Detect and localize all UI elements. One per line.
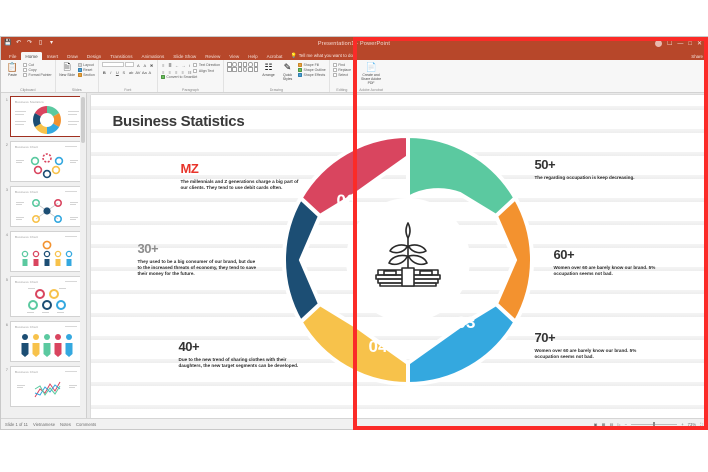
thumbnail-row[interactable]: 2 Business Chart	[3, 141, 84, 182]
share-button[interactable]: Share	[691, 54, 703, 59]
quick-styles-label: Quick Styles	[279, 73, 296, 81]
thumbnail-rule	[65, 326, 77, 327]
quick-styles-icon: ✎	[284, 62, 292, 72]
tab-design[interactable]: Design	[83, 52, 105, 60]
thumbnail-row[interactable]: 5 Business Chart	[3, 276, 84, 317]
arrange-icon: ☷	[264, 62, 272, 72]
slide-thumbnail-4[interactable]: Business Chart	[10, 231, 82, 272]
lightbulb-icon: 💡	[290, 53, 296, 59]
slideshow-view-button[interactable]: ▷	[618, 422, 621, 427]
thumbnail-number: 2	[3, 141, 8, 147]
thumbnail-title: Business Chart	[15, 145, 38, 149]
select-label: Select	[338, 73, 348, 77]
reset-icon	[78, 68, 82, 72]
title-bar: 💾 ↶ ↷ ▯ ▾ Presentation1 - PowerPoint ☐ —…	[1, 37, 707, 50]
layout-label: Layout	[83, 63, 94, 67]
new-slide-icon: 🗎	[64, 62, 71, 72]
text-block-heading: 60+	[554, 247, 679, 262]
copy-icon	[23, 68, 27, 72]
create-share-adobe-pdf-button[interactable]: 📄 Create and Share Adobe PDF	[358, 62, 384, 85]
restore-button[interactable]: □	[688, 41, 692, 47]
group-label-editing: Editing	[336, 88, 347, 93]
reset-label: Reset	[83, 68, 92, 72]
ribbon-group-paragraph: ≡ ≣ ← → ↕ Text Direction ≡ ≡ ≡	[158, 60, 224, 92]
align-center-button[interactable]: ≡	[167, 69, 172, 74]
text-direction-label: Text Direction	[199, 63, 220, 67]
window-controls[interactable]: ☐ — □ ✕	[655, 40, 704, 47]
thumbnail-number: 6	[3, 321, 8, 327]
increase-indent-button[interactable]: →	[180, 62, 185, 67]
tell-me-search[interactable]: 💡 Tell me what you want to do	[287, 51, 355, 60]
replace-label: Replace	[338, 68, 351, 72]
thumbnail-title: Business Statistics	[15, 100, 44, 104]
thumbnail-rule	[65, 281, 77, 282]
create-share-adobe-pdf-label: Create and Share Adobe PDF	[358, 73, 384, 85]
shape-fill-label: Shape Fill	[304, 63, 320, 67]
text-block-30plus[interactable]: 30+ They used to be a big consumer of ou…	[138, 241, 260, 278]
columns-button[interactable]: ☷	[187, 69, 192, 74]
thumbnail-rule	[65, 371, 77, 372]
text-block-60plus[interactable]: 60+ Women over 60 are barely know our br…	[554, 247, 679, 277]
shape-banner-icon[interactable]	[232, 67, 237, 72]
sorter-view-button[interactable]: ▦	[602, 422, 606, 427]
align-text-label: Align Text	[199, 69, 214, 73]
thumbnail-rule	[65, 146, 77, 147]
shape-effects-icon	[298, 73, 302, 77]
font-family-select[interactable]	[102, 62, 124, 67]
svg-text:01: 01	[460, 201, 479, 220]
ribbon-group-editing: Find Replace Select Editing	[330, 60, 355, 92]
ribbon-group-adobe-acrobat: 📄 Create and Share Adobe PDF Adobe Acrob…	[355, 60, 387, 92]
thumbnail-row[interactable]: 4 Business Chart	[3, 231, 84, 272]
copy-button[interactable]: Copy	[23, 68, 52, 72]
shape-ellipse-icon[interactable]	[243, 67, 248, 72]
group-label-paragraph: Paragraph	[182, 88, 199, 93]
line-spacing-button[interactable]: ↕	[187, 62, 192, 67]
shape-callout-icon[interactable]	[238, 67, 243, 72]
share-label: Share	[691, 54, 703, 59]
svg-text:02: 02	[476, 225, 495, 244]
window-title: Presentation1 - PowerPoint	[1, 41, 707, 47]
bold-button[interactable]: B	[102, 69, 107, 74]
thumbnail-number: 3	[3, 186, 8, 192]
paste-button[interactable]: 📋 Paste	[4, 62, 21, 77]
thumbnail-number: 1	[3, 96, 8, 102]
shape-effects-label: Shape Effects	[304, 73, 326, 77]
group-label-clipboard: Clipboard	[20, 88, 35, 93]
tab-acrobat[interactable]: Acrobat	[263, 52, 287, 60]
numbering-button[interactable]: ≣	[167, 62, 172, 67]
shape-circle-icon[interactable]	[248, 62, 253, 67]
align-left-button[interactable]: ≡	[161, 69, 166, 74]
shadow-button[interactable]: ab	[128, 69, 133, 74]
replace-icon	[333, 68, 337, 72]
tab-review[interactable]: Review	[201, 52, 224, 60]
text-block-body: Women over 60 are barely know our brand.…	[535, 348, 660, 360]
font-color-button[interactable]: A	[147, 69, 152, 74]
shape-fill-button[interactable]: Shape Fill	[298, 63, 326, 67]
ribbon-tab-bar[interactable]: File Home Insert Draw Design Transitions…	[1, 50, 707, 60]
language-indicator[interactable]: Vietnamese	[33, 422, 55, 427]
underline-button[interactable]: U	[115, 69, 120, 74]
text-block-body: The regarding occupation is keep decreas…	[535, 175, 657, 181]
zoom-slider-knob[interactable]	[653, 422, 655, 427]
text-block-body: They used to be a big consumer of our br…	[138, 259, 260, 278]
paintbrush-icon	[23, 73, 27, 77]
tab-insert[interactable]: Insert	[43, 52, 63, 60]
group-label-font: Font	[124, 88, 131, 93]
arrange-button[interactable]: ☷ Arrange	[260, 62, 277, 77]
tab-transitions[interactable]: Transitions	[106, 52, 136, 60]
zoom-slider[interactable]	[631, 424, 677, 425]
shape-effects-button[interactable]: Shape Effects	[298, 73, 326, 77]
text-direction-icon	[193, 63, 197, 67]
account-avatar-icon[interactable]	[655, 40, 662, 47]
tab-view[interactable]: View	[225, 52, 243, 60]
thumbnail-title: Business Chart	[15, 325, 38, 329]
adobe-pdf-icon: 📄	[365, 62, 376, 72]
ribbon-body: 📋 Paste Cut Copy	[1, 60, 707, 93]
group-label-adobe-acrobat: Adobe Acrobat	[359, 88, 383, 93]
shape-outline-icon	[298, 68, 302, 72]
shape-star-icon[interactable]	[248, 67, 253, 72]
text-block-70plus[interactable]: 70+ Women over 60 are barely know our br…	[535, 330, 660, 360]
bullets-button[interactable]: ≡	[161, 62, 166, 67]
section-label: Section	[83, 73, 95, 77]
paste-label: Paste	[8, 73, 17, 77]
search-icon	[333, 63, 337, 67]
notes-button[interactable]: Notes	[60, 422, 71, 427]
donut-cycle-chart[interactable]: 01 02 03	[277, 129, 539, 391]
slide-canvas-area: Business Statistics MZ The millennials a…	[87, 93, 707, 429]
slide-thumbnail-pane[interactable]: 1 Business Statistics	[1, 93, 87, 429]
thumbnail-row[interactable]: 3 Business Chart	[3, 186, 84, 227]
quick-styles-button[interactable]: ✎ Quick Styles	[279, 62, 296, 81]
shape-rect-icon[interactable]	[227, 62, 232, 67]
shape-oval-icon[interactable]	[232, 62, 237, 67]
thumbnail-rule	[65, 191, 77, 192]
status-bar: Slide 1 of 11 Vietnamese Notes Comments …	[1, 418, 707, 429]
shape-flow-icon[interactable]	[254, 67, 259, 72]
thumbnail-title: Business Chart	[15, 280, 38, 284]
replace-button[interactable]: Replace	[333, 68, 351, 72]
thumbnail-title: Business Chart	[15, 370, 38, 374]
reset-button[interactable]: Reset	[78, 68, 95, 72]
font-size-select[interactable]	[125, 62, 134, 67]
slide-thumbnail-3[interactable]: Business Chart	[10, 186, 82, 227]
slide-thumbnail-5[interactable]: Business Chart	[10, 276, 82, 317]
find-button[interactable]: Find	[333, 63, 351, 67]
screen-root: 💾 ↶ ↷ ▯ ▾ Presentation1 - PowerPoint ☐ —…	[0, 0, 708, 472]
align-text-button[interactable]: Align Text	[193, 69, 214, 73]
tab-home[interactable]: Home	[21, 52, 41, 60]
italic-button[interactable]: I	[108, 69, 113, 74]
align-text-icon	[193, 69, 197, 73]
new-slide-label: New Slide	[59, 73, 75, 77]
new-slide-button[interactable]: 🗎 New Slide	[59, 62, 76, 77]
thumbnail-row[interactable]: 1 Business Statistics	[3, 96, 84, 137]
shape-outline-button[interactable]: Shape Outline	[298, 68, 326, 72]
cut-button[interactable]: Cut	[23, 63, 52, 67]
increase-font-size-icon[interactable]: A	[136, 62, 141, 67]
thumbnail-scrollbar-thumb[interactable]	[81, 97, 85, 143]
shape-outline-label: Shape Outline	[304, 68, 326, 72]
shape-pentagon-icon[interactable]	[227, 67, 232, 72]
smartart-icon	[161, 75, 165, 79]
layout-icon	[78, 63, 82, 67]
thumbnail-number: 5	[3, 276, 8, 282]
tell-me-label: Tell me what you want to do	[299, 53, 353, 58]
ribbon-display-options-icon[interactable]: ☐	[667, 40, 672, 47]
tab-slide-show[interactable]: Slide Show	[169, 52, 200, 60]
comments-button[interactable]: Comments	[76, 422, 96, 427]
strikethrough-button[interactable]: S	[121, 69, 126, 74]
group-label-drawing: Drawing	[270, 88, 283, 93]
thumbnail-rule	[65, 236, 77, 237]
status-bar-right: ▣ ▦ ▤ ▷ − + 73% ⛶	[594, 422, 703, 427]
align-right-button[interactable]: ≡	[174, 69, 179, 74]
decrease-indent-button[interactable]: ←	[174, 62, 179, 67]
select-button[interactable]: Select	[333, 73, 351, 77]
workspace: 1 Business Statistics	[1, 93, 707, 429]
shape-fill-icon	[298, 63, 302, 67]
text-block-50plus[interactable]: 50+ The regarding occupation is keep dec…	[535, 157, 657, 181]
powerpoint-window: 💾 ↶ ↷ ▯ ▾ Presentation1 - PowerPoint ☐ —…	[0, 36, 708, 430]
shapes-gallery[interactable]	[227, 62, 258, 72]
text-block-body: Women over 60 are barely know our brand.…	[554, 265, 679, 277]
ribbon-group-clipboard: 📋 Paste Cut Copy	[1, 60, 56, 92]
section-button[interactable]: Section	[78, 73, 95, 77]
convert-smartart-label: Convert to SmartArt	[166, 75, 197, 79]
svg-text:05: 05	[320, 227, 339, 246]
text-block-heading: 30+	[138, 241, 260, 256]
reading-view-button[interactable]: ▤	[610, 422, 614, 427]
decrease-font-size-icon[interactable]: A	[142, 62, 147, 67]
slide-counter: Slide 1 of 11	[5, 422, 28, 427]
shape-arrow-icon[interactable]	[243, 62, 248, 67]
tab-animations[interactable]: Animations	[138, 52, 169, 60]
section-icon	[78, 73, 82, 77]
find-label: Find	[338, 63, 345, 67]
zoom-out-button[interactable]: −	[625, 422, 627, 427]
text-block-heading: 50+	[535, 157, 657, 172]
svg-text:03: 03	[456, 313, 475, 332]
tab-help[interactable]: Help	[244, 52, 261, 60]
text-block-heading: 70+	[535, 330, 660, 345]
fit-to-window-button[interactable]: ⛶	[700, 422, 703, 427]
character-spacing-button[interactable]: AV	[134, 69, 139, 74]
thumbnail-row[interactable]: 6 Business Chart	[3, 321, 84, 362]
format-painter-label: Format Painter	[29, 73, 52, 77]
zoom-in-button[interactable]: +	[681, 422, 683, 427]
donut-segment-02: 02	[476, 198, 531, 322]
select-icon	[333, 73, 337, 77]
clear-formatting-icon[interactable]: ✖	[149, 62, 154, 67]
thumbnail-number: 4	[3, 231, 8, 237]
slide-thumbnail-7[interactable]: Business Chart	[10, 366, 82, 407]
thumbnail-title: Business Chart	[15, 235, 38, 239]
close-button[interactable]: ✕	[697, 40, 702, 47]
thumbnail-number: 7	[3, 366, 8, 372]
copy-label: Copy	[29, 68, 37, 72]
slide-thumbnail-1[interactable]: Business Statistics	[10, 96, 82, 137]
format-painter-button[interactable]: Format Painter	[23, 73, 52, 77]
text-direction-button[interactable]: Text Direction	[193, 63, 220, 67]
tab-file[interactable]: File	[5, 52, 20, 60]
group-label-slides: Slides	[72, 88, 82, 93]
svg-text:06: 06	[336, 191, 355, 210]
scissors-icon	[23, 63, 27, 67]
change-case-button[interactable]: Aa	[141, 69, 146, 74]
slide-surface[interactable]: Business Statistics MZ The millennials a…	[91, 95, 704, 424]
shape-triangle-icon[interactable]	[254, 62, 259, 67]
shape-line-icon[interactable]	[238, 62, 243, 67]
donut-segment-05: 05	[283, 198, 338, 322]
slide-thumbnail-2[interactable]: Business Chart	[10, 141, 82, 182]
tab-draw[interactable]: Draw	[63, 52, 82, 60]
svg-text:04: 04	[368, 337, 387, 356]
thumbnail-row[interactable]: 7 Business Chart	[3, 366, 84, 407]
ribbon-group-font: A A ✖ B I U S ab AV Aa A Font	[99, 60, 158, 92]
minimize-button[interactable]: —	[677, 41, 683, 47]
arrange-label: Arrange	[262, 73, 274, 77]
slide-thumbnail-6[interactable]: Business Chart	[10, 321, 82, 362]
ribbon-group-slides: 🗎 New Slide Layout Reset	[56, 60, 99, 92]
zoom-level[interactable]: 73%	[688, 422, 696, 427]
layout-button[interactable]: Layout	[78, 63, 95, 67]
convert-smartart-button[interactable]: Convert to SmartArt	[161, 75, 197, 79]
cut-label: Cut	[29, 63, 34, 67]
ribbon-group-drawing: ☷ Arrange ✎ Quick Styles Shape Fill	[224, 60, 330, 92]
justify-button[interactable]: ≡	[180, 69, 185, 74]
normal-view-button[interactable]: ▣	[594, 422, 598, 427]
thumbnail-scrollbar[interactable]	[80, 93, 85, 417]
page-title: Business Statistics	[113, 113, 245, 130]
thumbnail-title: Business Chart	[15, 190, 38, 194]
clipboard-icon: 📋	[7, 62, 18, 72]
